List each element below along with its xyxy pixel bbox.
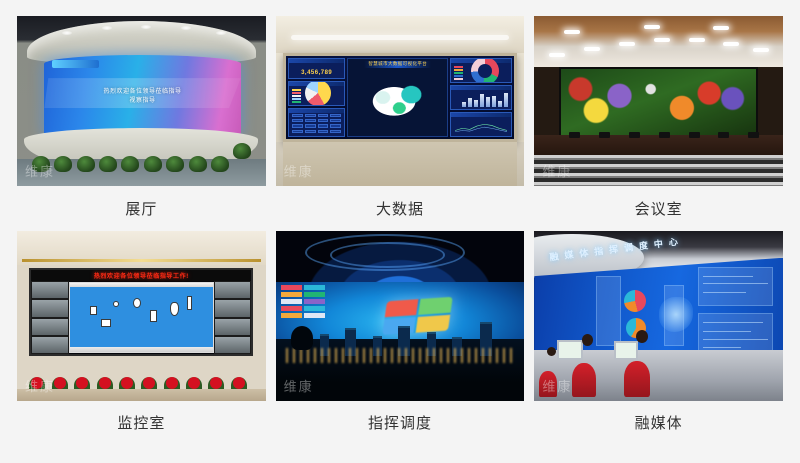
- person-seated: [572, 363, 596, 397]
- data-table-panel: [288, 108, 345, 137]
- kpi-panel: 3,456,789: [288, 58, 345, 78]
- ceiling: [276, 16, 525, 53]
- panel-header: [289, 109, 344, 113]
- ceiling-light-icon: [753, 48, 769, 52]
- ceiling-light-icon: [619, 42, 635, 46]
- map-panel: 智慧城市大数据可视化平台: [347, 58, 448, 136]
- donut-chart-panel: [450, 58, 512, 83]
- caption-big-data: 大数据: [276, 186, 525, 231]
- ceiling-spotlight-icon: [141, 25, 151, 29]
- microphone-icon: [629, 132, 640, 138]
- image-gallery: 热烈欢迎各位领导莅临指导 视察指导 维康 展厅: [0, 0, 800, 463]
- camera-grid-right: [214, 281, 251, 354]
- monitor-screen: [557, 340, 583, 360]
- microphone-icon: [748, 132, 759, 138]
- ceiling-light-icon: [584, 47, 600, 51]
- bar-chart: [462, 92, 508, 107]
- pie-chart: [624, 290, 646, 312]
- microphone-icon: [718, 132, 729, 138]
- screen-logo: [52, 60, 99, 68]
- microphone-icon: [599, 132, 610, 138]
- dashboard-title: 智慧城市大数据可视化平台: [364, 61, 431, 68]
- info-panel: [596, 276, 621, 345]
- scada-node: [101, 319, 111, 327]
- dashboard-center-column: 智慧城市大数据可视化平台: [347, 58, 448, 136]
- screen-text-line2: 视察指导: [44, 97, 240, 107]
- ceiling-light-icon: [549, 53, 565, 57]
- planter-icon: [121, 156, 139, 172]
- planter-icon: [211, 156, 229, 172]
- caption-command-dispatch: 指挥调度: [276, 401, 525, 446]
- line-chart-panel: [450, 112, 512, 137]
- photo-exhibition-hall[interactable]: 热烈欢迎各位领导莅临指导 视察指导 维康: [17, 16, 266, 186]
- camera-grid-left: [31, 281, 68, 354]
- floor: [17, 389, 266, 401]
- scada-node: [90, 306, 97, 315]
- info-panel: [664, 285, 684, 345]
- microphone-icon: [689, 132, 700, 138]
- planter-icon: [77, 156, 95, 172]
- ceiling-light-icon: [689, 38, 705, 42]
- planter-icon: [54, 156, 72, 172]
- gallery-card-command-dispatch[interactable]: 维康 指挥调度: [276, 231, 525, 446]
- microphone-icon: [569, 132, 580, 138]
- gallery-card-exhibition-hall[interactable]: 热烈欢迎各位领导莅临指导 视察指导 维康 展厅: [17, 16, 266, 231]
- gallery-card-big-data[interactable]: 3,456,789: [276, 16, 525, 231]
- data-grid: [292, 114, 341, 133]
- microphone-icon: [659, 132, 670, 138]
- windows-logo-icon: [382, 296, 452, 334]
- video-wall: 热烈欢迎各位领导莅临指导工作!: [29, 268, 253, 356]
- pie-chart-panel: [288, 81, 345, 106]
- person-head: [582, 334, 593, 346]
- scada-node: [170, 302, 179, 316]
- ceiling-light-icon: [654, 38, 670, 42]
- console-desk: [283, 142, 517, 186]
- photo-conference-room[interactable]: 维康: [534, 16, 783, 186]
- planter-icon: [233, 143, 251, 159]
- led-banner: 热烈欢迎各位领导莅临指导工作!: [31, 270, 251, 281]
- monitor-screen: [614, 341, 638, 360]
- scada-node: [187, 296, 192, 310]
- panel-header: [451, 86, 511, 90]
- gallery-card-monitoring-room[interactable]: 热烈欢迎各位领导莅临指导工作!: [17, 231, 266, 446]
- ceiling-spotlight-icon: [102, 26, 112, 30]
- bar-chart-panel: [450, 85, 512, 110]
- screen-text-line1: 热烈欢迎各位领导莅临指导: [44, 88, 240, 98]
- person-head: [636, 330, 648, 343]
- ceiling-light-icon: [644, 25, 660, 29]
- china-map: [360, 78, 435, 125]
- scada-node: [113, 301, 119, 307]
- planter-icon: [99, 156, 117, 172]
- video-wall: 3,456,789: [286, 56, 514, 138]
- caption-conference-room: 会议室: [534, 186, 783, 231]
- pie-chart: [305, 81, 331, 106]
- city-lights: [286, 348, 515, 363]
- screen-welcome-text: 热烈欢迎各位领导莅临指导 视察指导: [44, 88, 240, 107]
- planter-icon: [189, 156, 207, 172]
- info-panel: [698, 267, 773, 306]
- gallery-card-conference-room[interactable]: 维康 会议室: [534, 16, 783, 231]
- ceiling-light-icon: [564, 30, 580, 34]
- kpi-value: 3,456,789: [289, 63, 344, 78]
- ceiling-ring: [330, 242, 444, 268]
- line-chart: [455, 122, 507, 133]
- gold-trim: [22, 259, 261, 262]
- planter-icon: [166, 156, 184, 172]
- caption-monitoring-room: 监控室: [17, 401, 266, 446]
- person-silhouette: [291, 326, 313, 350]
- audience-seating: [534, 155, 783, 186]
- dashboard-left-column: 3,456,789: [288, 58, 345, 136]
- led-display-flowers: [559, 67, 758, 138]
- person-seated: [539, 371, 557, 397]
- dashboard-right-column: [450, 58, 512, 136]
- video-wall-frame: 3,456,789: [283, 53, 517, 141]
- caption-converged-media: 融媒体: [534, 401, 783, 446]
- ceiling-light-icon: [723, 42, 739, 46]
- scada-screen: [69, 282, 214, 353]
- planter-icon: [32, 156, 50, 172]
- person-seated: [624, 361, 650, 397]
- pie-legend: [292, 89, 301, 103]
- photo-monitoring-room[interactable]: 热烈欢迎各位领导莅临指导工作!: [17, 231, 266, 401]
- photo-command-dispatch[interactable]: 维康: [276, 231, 525, 401]
- panel-header: [451, 113, 511, 117]
- ceiling-light-icon: [713, 26, 729, 30]
- planter-icon: [144, 156, 162, 172]
- scada-node: [150, 310, 157, 322]
- scada-node: [133, 298, 141, 308]
- donut-legend: [454, 66, 463, 80]
- photo-big-data[interactable]: 3,456,789: [276, 16, 525, 186]
- gallery-card-converged-media[interactable]: 融媒体指挥调度中心 维康 融媒体: [534, 231, 783, 446]
- caption-exhibition-hall: 展厅: [17, 186, 266, 231]
- photo-converged-media[interactable]: 融媒体指挥调度中心 维康: [534, 231, 783, 401]
- donut-chart: [471, 58, 499, 83]
